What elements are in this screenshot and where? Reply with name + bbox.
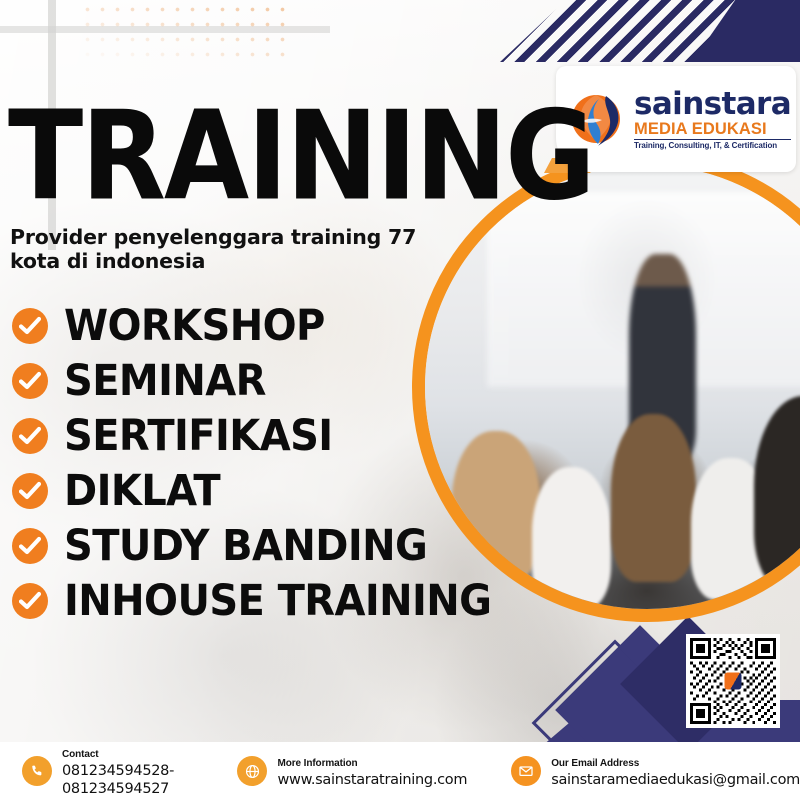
envelope-icon bbox=[511, 756, 541, 786]
footer-website-title: More Information bbox=[277, 758, 357, 769]
list-item: DIKLAT bbox=[12, 471, 491, 511]
page-title: TRAINING bbox=[8, 104, 593, 210]
service-list: WORKSHOP SEMINAR SERTIFIKASI DIKLAT STUD… bbox=[12, 306, 491, 621]
check-circle-icon bbox=[12, 418, 48, 454]
footer-website-value: www.sainstaratraining.com bbox=[277, 772, 467, 788]
audience-head bbox=[532, 467, 612, 609]
check-circle-icon bbox=[12, 308, 48, 344]
footer-email[interactable]: Our Email Address sainstaramediaedukasi@… bbox=[511, 753, 800, 789]
service-label: DIKLAT bbox=[64, 470, 220, 512]
page-subtitle: Provider penyelenggara training 77 kota … bbox=[10, 226, 440, 274]
qr-center-logo-icon bbox=[725, 673, 742, 690]
audience-head bbox=[754, 396, 800, 591]
list-item: SEMINAR bbox=[12, 361, 491, 401]
footer-contact[interactable]: Contact 081234594528-081234594527 bbox=[22, 744, 189, 798]
service-label: SERTIFIKASI bbox=[64, 415, 333, 457]
footer-email-value: sainstaramediaedukasi@gmail.com bbox=[551, 772, 800, 788]
list-item: SERTIFIKASI bbox=[12, 416, 491, 456]
audience-head bbox=[611, 414, 695, 583]
check-circle-icon bbox=[12, 363, 48, 399]
service-label: INHOUSE TRAINING bbox=[64, 580, 491, 622]
list-item: INHOUSE TRAINING bbox=[12, 581, 491, 621]
service-label: SEMINAR bbox=[64, 360, 266, 402]
service-label: WORKSHOP bbox=[64, 305, 325, 347]
list-item: WORKSHOP bbox=[12, 306, 491, 346]
footer-contact-title: Contact bbox=[62, 749, 99, 760]
training-poster: sainstara MEDIA EDUKASI Training, Consul… bbox=[0, 0, 800, 800]
footer-email-title: Our Email Address bbox=[551, 758, 639, 769]
logo-subtitle: MEDIA EDUKASI bbox=[634, 121, 791, 138]
check-circle-icon bbox=[12, 583, 48, 619]
phone-icon bbox=[22, 756, 52, 786]
logo-tagline: Training, Consulting, IT, & Certificatio… bbox=[634, 139, 791, 150]
orange-halftone-dots bbox=[80, 2, 290, 64]
logo-name: sainstara bbox=[634, 89, 791, 120]
qr-code[interactable] bbox=[686, 634, 780, 728]
contact-footer: Contact 081234594528-081234594527 More I… bbox=[0, 742, 800, 800]
check-circle-icon bbox=[12, 473, 48, 509]
list-item: STUDY BANDING bbox=[12, 526, 491, 566]
footer-website[interactable]: More Information www.sainstaratraining.c… bbox=[237, 753, 467, 789]
check-circle-icon bbox=[12, 528, 48, 564]
footer-contact-value: 081234594528-081234594527 bbox=[62, 763, 174, 797]
service-label: STUDY BANDING bbox=[64, 525, 427, 567]
globe-icon bbox=[237, 756, 267, 786]
